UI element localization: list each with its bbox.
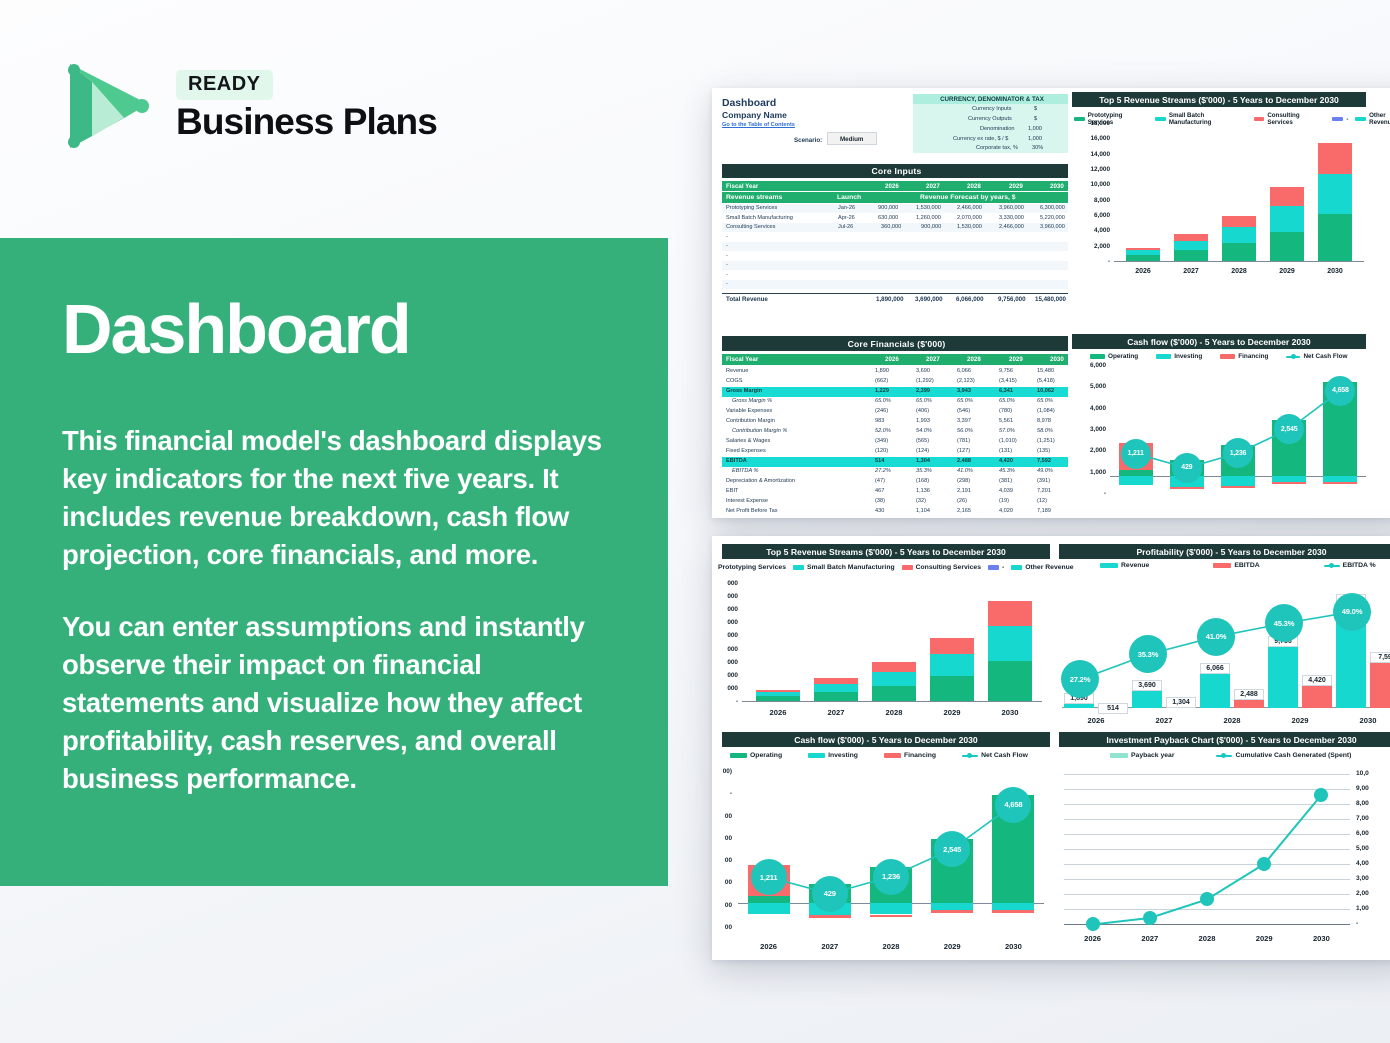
ytick-b-0: - xyxy=(712,698,738,705)
cf-row-7-v2: (781) xyxy=(957,438,970,444)
currency-rate-label: Currency ex rate, $ / $ xyxy=(953,136,1008,142)
cf-row-6-v1: 54.0% xyxy=(916,428,932,434)
cf-year-2029: 2029 xyxy=(1009,356,1023,363)
cf-row-8-v2: (127) xyxy=(957,448,970,454)
currency-outputs-value: $ xyxy=(1034,116,1037,122)
currency-inputs-value: $ xyxy=(1034,106,1037,112)
cf-year-2027: 2027 xyxy=(926,356,940,363)
xtick-2027: 2027 xyxy=(1168,268,1214,275)
cf-ytick-0: 00 xyxy=(712,924,732,931)
cf-row-highlight xyxy=(722,387,1071,397)
cf-ytick-2: 2,000 xyxy=(1072,447,1106,454)
scenario-dropdown[interactable]: Medium xyxy=(827,132,877,145)
core-inputs-header: Core Inputs xyxy=(722,164,1071,178)
pf-xtick-2026: 2026 xyxy=(1071,716,1121,725)
cf-row-13-v1: (32) xyxy=(916,498,926,504)
stream-row-3-v3: 1,530,000 xyxy=(957,224,982,230)
chart-profitability-plot: 1,8905143,6901,3046,0662,4889,7564,42015… xyxy=(1062,584,1390,708)
cf-row-2-v0: 1,229 xyxy=(875,388,889,394)
cf-year-2028: 2028 xyxy=(967,356,981,363)
legend-b-blank[interactable]: - xyxy=(988,564,1004,571)
brand-badge: READY xyxy=(176,70,273,100)
bubble-2027: 429 xyxy=(812,876,848,912)
pf-xtick-2027: 2027 xyxy=(1139,716,1189,725)
stream-row-9-name: - xyxy=(726,281,728,287)
cf-row-10-v4: 49.0% xyxy=(1037,468,1053,474)
pb-ytick-10: 10,0 xyxy=(1356,770,1390,777)
legend-operating[interactable]: Operating xyxy=(1090,353,1138,360)
cf-row-4-v2: (546) xyxy=(957,408,970,414)
cf-row-11-v3: (381) xyxy=(999,478,1012,484)
pf-xtick-2030: 2030 xyxy=(1343,716,1390,725)
cf-row-label-14: Net Profit Before Tax xyxy=(726,508,778,514)
ytick-b-9: 000 xyxy=(712,580,738,587)
cf-row-7-v3: (1,010) xyxy=(999,438,1017,444)
ytick-b-4: 000 xyxy=(712,646,738,653)
core-inputs-year-2027: 2027 xyxy=(926,183,940,190)
stream-row-2-v5: 5,220,000 xyxy=(1040,215,1065,221)
ytick--: - xyxy=(1074,258,1110,265)
sheet-subtitle: Company Name xyxy=(722,110,787,120)
legend-cb-investing[interactable]: Investing xyxy=(808,752,858,759)
cf-row-highlight xyxy=(722,457,1071,467)
cf-row-6-v4: 58.0% xyxy=(1037,428,1053,434)
cf-row-label-12: EBIT xyxy=(726,488,738,494)
pb-ytick-1: 1,00 xyxy=(1356,905,1390,912)
cf-row-3-v4: 65.0% xyxy=(1037,398,1053,404)
cf-row-13-v3: (19) xyxy=(999,498,1009,504)
ytick-10,000: 10,000 xyxy=(1074,181,1110,188)
bubble-2026: 1,211 xyxy=(1121,439,1151,469)
stream-row-2-name: Small Batch Manufacturing xyxy=(726,215,793,221)
bar-2029-small-batch-manufacturing xyxy=(930,654,974,676)
sheet-title: Dashboard xyxy=(722,98,776,109)
cf-row-label-1: COGS xyxy=(726,378,742,384)
denomination-value: 1,000 xyxy=(1028,126,1042,132)
cf-row-label-2: Gross Margin xyxy=(726,388,762,394)
cf-ytick-4: 00 xyxy=(712,835,732,842)
cf-ytick-6: - xyxy=(712,790,732,797)
xtick-2026: 2026 xyxy=(1120,268,1166,275)
legend-payback-year[interactable]: Payback year xyxy=(1110,752,1174,759)
cf-row-14-v4: 7,189 xyxy=(1037,508,1051,514)
cf-row-13-v4: (12) xyxy=(1037,498,1047,504)
legend-cb-operating[interactable]: Operating xyxy=(730,752,782,759)
xtick-b-2026: 2026 xyxy=(750,708,806,717)
pb-ytick-3: 3,00 xyxy=(1356,875,1390,882)
chart-revenue-streams-top-plot xyxy=(1114,124,1364,262)
legend-b-small-batch[interactable]: Small Batch Manufacturing xyxy=(793,564,895,571)
stream-row-2-v2: 1,260,000 xyxy=(916,215,941,221)
xtick-b-2028: 2028 xyxy=(866,708,922,717)
cf-row-9-v3: 4,420 xyxy=(999,458,1013,464)
bar-2026-small-batch-manufacturing xyxy=(1126,250,1160,255)
chart-cashflow-top-title: Cash flow ($'000) - 5 Years to December … xyxy=(1072,334,1366,349)
cf-row-4-v0: (246) xyxy=(875,408,888,414)
cf-row-0-v1: 3,690 xyxy=(916,368,930,374)
cf-row-2-v4: 10,062 xyxy=(1037,388,1054,394)
cf-row-11-v2: (298) xyxy=(957,478,970,484)
legend-b-prototyping[interactable]: Prototyping Services xyxy=(718,564,786,571)
pf-xtick-2029: 2029 xyxy=(1275,716,1325,725)
pb-xtick-2030: 2030 xyxy=(1296,934,1346,943)
xtick-b-2029: 2029 xyxy=(924,708,980,717)
bar-2029-consulting-services xyxy=(930,638,974,654)
cf-row-14-v2: 2,165 xyxy=(957,508,971,514)
stream-row-5-name: - xyxy=(726,243,728,249)
cf-row-3-v3: 65.0% xyxy=(999,398,1015,404)
cf-row-9-v2: 2,488 xyxy=(957,458,971,464)
cf-year-2026: 2026 xyxy=(885,356,899,363)
legend-b-other[interactable]: Other Revenue xyxy=(1011,564,1073,571)
bar-2026-consulting-services xyxy=(1126,248,1160,251)
chart-payback-title: Investment Payback Chart ($'000) - 5 Yea… xyxy=(1059,732,1390,747)
xtick-b-2027: 2027 xyxy=(808,708,864,717)
denomination-label: Denomination xyxy=(980,126,1015,132)
cf-row-label-9: EBITDA xyxy=(726,458,747,464)
bubble-2027: 429 xyxy=(1172,453,1202,483)
ytick-4,000: 4,000 xyxy=(1074,227,1110,234)
legend-cb-financing[interactable]: Financing xyxy=(884,752,936,759)
cf-row-4-v1: (406) xyxy=(916,408,929,414)
cf-row-11-v4: (391) xyxy=(1037,478,1050,484)
stream-row-1-v1: 900,000 xyxy=(878,205,898,211)
total-revenue-2029: 9,756,000 xyxy=(998,296,1026,303)
core-inputs-year-2030: 2030 xyxy=(1050,183,1064,190)
cf-row-0-v4: 15,480 xyxy=(1037,368,1054,374)
pb-ytick-6: 6,00 xyxy=(1356,830,1390,837)
stream-row-1-v3: 2,466,000 xyxy=(957,205,982,211)
stream-row-8-name: - xyxy=(726,272,728,278)
bar-2030-small-batch-manufacturing xyxy=(988,626,1032,660)
cf-row-14-v0: 430 xyxy=(875,508,884,514)
cf-row-label-4: Variable Expenses xyxy=(726,408,772,414)
cf-row-3-v1: 65.0% xyxy=(916,398,932,404)
bar-2028-prototyping-services xyxy=(1222,243,1256,262)
cf-row-5-v0: 983 xyxy=(875,418,884,424)
cf-ytick-0: - xyxy=(1072,490,1106,497)
xtick-2029: 2029 xyxy=(1264,268,1310,275)
chart-cashflow-top-plot: 1,2114291,2362,5454,658 xyxy=(1110,366,1366,494)
corporate-tax-value: 30% xyxy=(1032,145,1043,151)
cf-row-12-v3: 4,039 xyxy=(999,488,1013,494)
cf-row-7-v1: (565) xyxy=(916,438,929,444)
cf-row-6-v0: 52.0% xyxy=(875,428,891,434)
ytick-16,000: 16,000 xyxy=(1074,135,1110,142)
xtick-2028: 2028 xyxy=(1216,268,1262,275)
cf-row-4-v3: (780) xyxy=(999,408,1012,414)
cf-xtick-2028: 2028 xyxy=(866,942,916,951)
chart-cashflow-bottom-title: Cash flow ($'000) - 5 Years to December … xyxy=(722,732,1050,747)
pb-ytick-9: 9,00 xyxy=(1356,785,1390,792)
ytick-2,000: 2,000 xyxy=(1074,243,1110,250)
core-inputs-year-2026: 2026 xyxy=(885,183,899,190)
cf-row-1-v0: (662) xyxy=(875,378,888,384)
cf-row-1-v3: (3,415) xyxy=(999,378,1017,384)
bubble-2030: 4,658 xyxy=(995,787,1031,823)
stream-row-4-name: - xyxy=(726,234,728,240)
cf-xtick-2026: 2026 xyxy=(744,942,794,951)
cf-ytick-3: 3,000 xyxy=(1072,426,1106,433)
cf-row-label-11: Depreciation & Amortization xyxy=(726,478,795,484)
ytick-b-7: 000 xyxy=(712,606,738,613)
core-inputs-fiscal-label: Fiscal Year xyxy=(726,183,758,190)
bar-2030-small-batch-manufacturing xyxy=(1318,174,1352,214)
cf-row-3-v0: 65.0% xyxy=(875,398,891,404)
cf-fiscal-label: Fiscal Year xyxy=(726,356,758,363)
pb-ytick-8: 8,00 xyxy=(1356,800,1390,807)
stream-row-3-v5: 3,960,000 xyxy=(1040,224,1065,230)
stream-row-1-launch: Jan-26 xyxy=(838,205,855,211)
cf-row-14-v3: 4,020 xyxy=(999,508,1013,514)
ytick-b-8: 000 xyxy=(712,593,738,600)
cf-ytick-3: 00 xyxy=(712,857,732,864)
bar-2027-consulting-services xyxy=(814,678,858,684)
cf-row-9-v4: 7,592 xyxy=(1037,458,1051,464)
cf-row-6-v3: 57.0% xyxy=(999,428,1015,434)
cf-row-1-v2: (2,123) xyxy=(957,378,975,384)
cf-row-11-v0: (47) xyxy=(875,478,885,484)
cf-row-12-v0: 467 xyxy=(875,488,884,494)
cf-row-label-6: Contribution Margin % xyxy=(732,428,787,434)
cf-row-12-v2: 2,191 xyxy=(957,488,971,494)
total-revenue-2026: 1,890,000 xyxy=(876,296,904,303)
cf-row-2-v1: 2,399 xyxy=(916,388,930,394)
chart-profitability-title: Profitability ($'000) - 5 Years to Decem… xyxy=(1059,544,1390,559)
legend-blank[interactable]: - xyxy=(1332,116,1348,123)
pb-grid-0 xyxy=(1064,924,1350,925)
stream-row-3-launch: Jul-26 xyxy=(838,224,853,230)
cf-ytick-1: 00 xyxy=(712,902,732,909)
stream-row-1-name: Prototyping Services xyxy=(726,205,777,211)
pb-xtick-2026: 2026 xyxy=(1068,934,1118,943)
total-revenue-2028: 6,066,000 xyxy=(956,296,984,303)
cf-row-10-v1: 35.3% xyxy=(916,468,932,474)
cf-row-4-v4: (1,084) xyxy=(1037,408,1055,414)
cf-row-5-v3: 5,561 xyxy=(999,418,1013,424)
ytick-8,000: 8,000 xyxy=(1074,197,1110,204)
ytick-18,000: 18,000 xyxy=(1074,120,1110,127)
cf-row-12-v4: 7,201 xyxy=(1037,488,1051,494)
cf-ytick-1: 1,000 xyxy=(1072,469,1106,476)
cf-xtick-2029: 2029 xyxy=(927,942,977,951)
stream-row-3-name: Consulting Services xyxy=(726,224,775,230)
cf-row-6-v2: 56.0% xyxy=(957,428,973,434)
cf-row-label-3: Gross Margin % xyxy=(732,398,772,404)
pb-ytick-5: 5,00 xyxy=(1356,845,1390,852)
bar-2030-consulting-services xyxy=(988,601,1032,627)
table-of-contents-link[interactable]: Go to the Table of Contents xyxy=(722,122,795,128)
bubble-2029: 2,545 xyxy=(934,831,970,867)
pb-ytick-7: 7,00 xyxy=(1356,815,1390,822)
stream-row-6-name: - xyxy=(726,253,728,259)
core-financials-header: Core Financials ($'000) xyxy=(722,336,1071,351)
cf-row-0-v3: 9,756 xyxy=(999,368,1013,374)
core-inputs-launch-label: Launch xyxy=(837,194,861,201)
bar-2028-prototyping-services xyxy=(872,686,916,702)
core-inputs-year-2029: 2029 xyxy=(1009,183,1023,190)
corporate-tax-label: Corporate tax, % xyxy=(976,145,1018,151)
cf-row-9-v1: 1,304 xyxy=(916,458,930,464)
bar-2026-consulting-services xyxy=(756,690,800,692)
pb-xtick-2028: 2028 xyxy=(1182,934,1232,943)
cf-ytick-6: 6,000 xyxy=(1072,362,1106,369)
ytick-b-5: 000 xyxy=(712,632,738,639)
cf-row-2-v2: 3,943 xyxy=(957,388,971,394)
cf-row-7-v0: (349) xyxy=(875,438,888,444)
bubble-pct-2030: 49.0% xyxy=(1333,593,1371,631)
cf-row-label-8: Fixed Expenses xyxy=(726,448,766,454)
chart-revenue-streams-top[interactable]: Top 5 Revenue Streams ($'000) - 5 Years … xyxy=(1068,88,1390,314)
cf-row-11-v1: (168) xyxy=(916,478,929,484)
cf-row-1-v1: (1,292) xyxy=(916,378,934,384)
bar-2028-consulting-services xyxy=(1222,216,1256,228)
bar-2027-small-batch-manufacturing xyxy=(814,684,858,692)
brand-name: Business Plans xyxy=(176,102,437,143)
core-inputs-streams-label: Revenue streams xyxy=(726,194,782,201)
x-axis xyxy=(742,701,1042,702)
ytick-b-1: 000 xyxy=(712,685,738,692)
stream-row-3-v2: 900,000 xyxy=(921,224,941,230)
cf-row-10-v3: 45.3% xyxy=(999,468,1015,474)
cf-row-0-v0: 1,890 xyxy=(875,368,889,374)
legend-cumulative-cash[interactable]: Cumulative Cash Generated (Spent) xyxy=(1216,752,1351,759)
legend-cb-net[interactable]: Net Cash Flow xyxy=(962,752,1028,759)
bar-2028-small-batch-manufacturing xyxy=(1222,227,1256,243)
chart-revenue-streams-top-title: Top 5 Revenue Streams ($'000) - 5 Years … xyxy=(1072,92,1366,107)
bubble-2030: 4,658 xyxy=(1325,376,1355,406)
cf-row-9-v0: 514 xyxy=(875,458,884,464)
cf-row-label-0: Revenue xyxy=(726,368,748,374)
total-revenue-2030: 15,480,000 xyxy=(1035,296,1066,303)
cf-year-2030: 2030 xyxy=(1050,356,1064,363)
stream-row-1-v2: 1,530,000 xyxy=(916,205,941,211)
cf-row-3-v2: 65.0% xyxy=(957,398,973,404)
chart-revenue-streams-bottom-plot xyxy=(742,584,1042,702)
currency-inputs-label: Currency Inputs xyxy=(972,106,1011,112)
stream-row-7-name: - xyxy=(726,262,728,268)
play-triangle-logo-icon xyxy=(62,58,154,154)
cf-row-7-v4: (1,251) xyxy=(1037,438,1055,444)
xtick-b-2030: 2030 xyxy=(982,708,1038,717)
legend-investing[interactable]: Investing xyxy=(1156,353,1202,360)
cf-row-8-v4: (135) xyxy=(1037,448,1050,454)
bar-2026-small-batch-manufacturing xyxy=(756,692,800,696)
legend-p-ebitda-pct[interactable]: EBITDA % xyxy=(1324,562,1376,569)
cf-ytick-7: 00) xyxy=(712,768,732,775)
bar-2029-prototyping-services xyxy=(930,676,974,702)
legend-net-cash-flow[interactable]: Net Cash Flow xyxy=(1286,353,1347,360)
bar-2028-consulting-services xyxy=(872,662,916,672)
legend-b-consulting[interactable]: Consulting Services xyxy=(902,564,981,571)
bar-2027-consulting-services xyxy=(1174,234,1208,241)
scenario-label: Scenario: xyxy=(794,137,822,144)
cf-row-label-5: Contribution Margin xyxy=(726,418,775,424)
cf-ytick-5: 00 xyxy=(712,813,732,820)
bar-2030-consulting-services xyxy=(1318,143,1352,173)
pb-ytick-0: - xyxy=(1356,920,1390,927)
cf-ytick-2: 00 xyxy=(712,879,732,886)
stream-row-1-v4: 3,960,000 xyxy=(999,205,1024,211)
cf-row-5-v2: 3,397 xyxy=(957,418,971,424)
currency-rate-value: 1,000 xyxy=(1028,136,1042,142)
brand-logo: READY Business Plans xyxy=(62,58,437,154)
stream-row-2-launch: Apr-26 xyxy=(838,215,855,221)
cf-row-10-v0: 27.2% xyxy=(875,468,891,474)
cf-row-5-v1: 1,993 xyxy=(916,418,930,424)
ytick-b-3: 000 xyxy=(712,659,738,666)
page-title: Dashboard xyxy=(62,294,612,364)
cf-row-8-v0: (120) xyxy=(875,448,888,454)
chart-cashflow-top[interactable]: Cash flow ($'000) - 5 Years to December … xyxy=(1068,330,1390,518)
cf-row-label-10: EBITDA % xyxy=(732,468,759,474)
bar-2029-prototyping-services xyxy=(1270,232,1304,262)
ytick-6,000: 6,000 xyxy=(1074,212,1110,219)
legend-p-ebitda[interactable]: EBITDA xyxy=(1213,562,1259,569)
stream-row-3-v1: 360,000 xyxy=(881,224,901,230)
pb-dot-2027 xyxy=(1143,911,1157,925)
stream-row-3-v4: 2,466,000 xyxy=(999,224,1024,230)
chart-cashflow-bottom-plot: 1,2114291,2362,5454,658 xyxy=(738,772,1044,928)
x-axis xyxy=(1114,261,1364,262)
core-inputs-year-2028: 2028 xyxy=(967,183,981,190)
bar-2027-small-batch-manufacturing xyxy=(1174,241,1208,251)
scenario-value: Medium xyxy=(840,136,863,143)
pb-xtick-2029: 2029 xyxy=(1239,934,1289,943)
cf-row-2-v3: 6,341 xyxy=(999,388,1013,394)
ytick-b-6: 000 xyxy=(712,619,738,626)
cf-row-12-v1: 1,136 xyxy=(916,488,930,494)
cf-xtick-2030: 2030 xyxy=(988,942,1038,951)
bar-2029-consulting-services xyxy=(1270,187,1304,206)
cf-ytick-5: 5,000 xyxy=(1072,383,1106,390)
cf-row-label-13: Interest Expense xyxy=(726,498,768,504)
stream-row-2-v4: 3,330,000 xyxy=(999,215,1024,221)
cf-row-10-v2: 41.0% xyxy=(957,468,973,474)
cf-row-1-v4: (5,418) xyxy=(1037,378,1055,384)
legend-financing[interactable]: Financing xyxy=(1220,353,1268,360)
chart-revenue-streams-bottom-title: Top 5 Revenue Streams ($'000) - 5 Years … xyxy=(722,544,1050,559)
cf-row-8-v1: (124) xyxy=(916,448,929,454)
ytick-14,000: 14,000 xyxy=(1074,151,1110,158)
total-revenue-label: Total Revenue xyxy=(726,296,768,303)
pb-xtick-2027: 2027 xyxy=(1125,934,1175,943)
bar-2029-small-batch-manufacturing xyxy=(1270,206,1304,232)
chart-payback-plot xyxy=(1064,774,1350,924)
bar-2030-prototyping-services xyxy=(988,661,1032,702)
dashboard-sheet-bottom[interactable]: Top 5 Revenue Streams ($'000) - 5 Years … xyxy=(712,536,1390,960)
currency-block-header: CURRENCY, DENOMINATOR & TAX xyxy=(913,94,1071,104)
bubble-2028: 1,236 xyxy=(1223,438,1253,468)
bar-2028-small-batch-manufacturing xyxy=(872,672,916,686)
currency-outputs-label: Currency Outputs xyxy=(968,116,1012,122)
cf-row-0-v2: 6,066 xyxy=(957,368,971,374)
stream-row-2-v3: 2,070,000 xyxy=(957,215,982,221)
ytick-b-2: 000 xyxy=(712,672,738,679)
bar-2030-prototyping-services xyxy=(1318,214,1352,262)
cf-row-5-v4: 8,978 xyxy=(1037,418,1051,424)
legend-p-revenue[interactable]: Revenue xyxy=(1100,562,1149,569)
xtick-2030: 2030 xyxy=(1312,268,1358,275)
cf-row-13-v0: (38) xyxy=(875,498,885,504)
cf-xtick-2027: 2027 xyxy=(805,942,855,951)
pb-dot-2026 xyxy=(1086,917,1100,931)
pb-ytick-4: 4,00 xyxy=(1356,860,1390,867)
cf-row-14-v1: 1,104 xyxy=(916,508,930,514)
bubble-2028: 1,236 xyxy=(873,859,909,895)
pb-ytick-2: 2,00 xyxy=(1356,890,1390,897)
pf-xtick-2028: 2028 xyxy=(1207,716,1257,725)
